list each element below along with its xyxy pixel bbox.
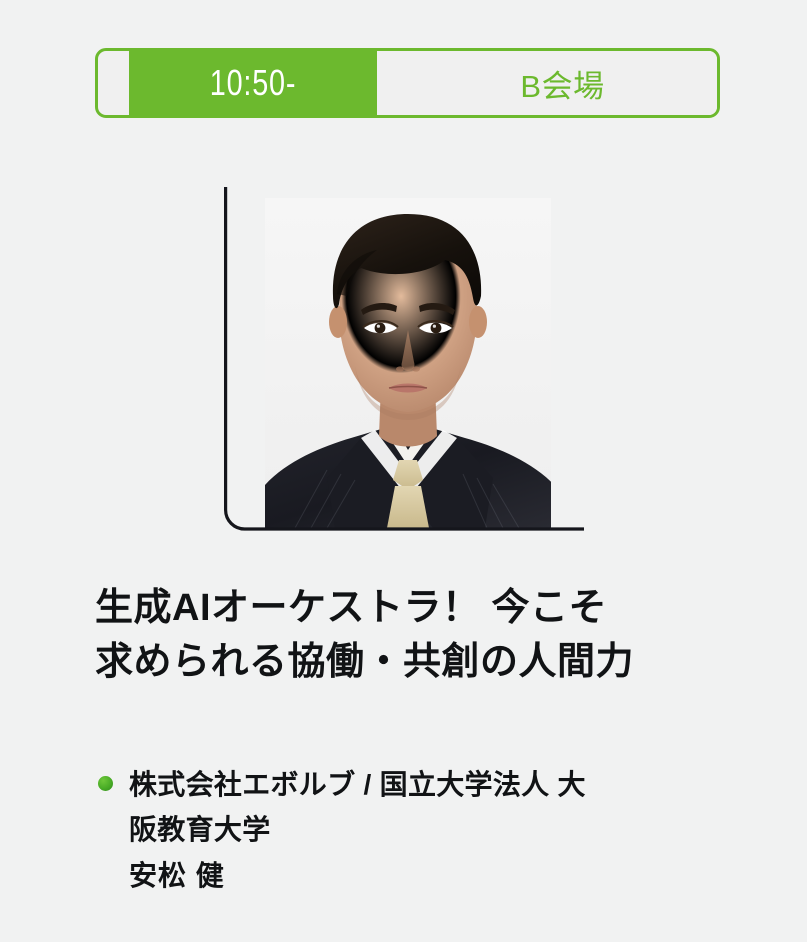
speaker-info: 株式会社エボルブ / 国立大学法人 大 阪教育大学 安松 健 [95,762,735,898]
speaker-affiliation-cont: 阪教育大学 [95,807,735,852]
session-badge: 10:50- B会場 [95,48,720,118]
bullet-dot-icon [98,776,113,791]
session-room-label: B会場 [408,51,717,115]
session-title-line-2: 求められる協働・共創の人間力 [95,636,735,690]
session-title: 生成AIオーケストラ！ 今こそ 求められる協働・共創の人間力 [95,582,735,690]
session-time-label: 10:50- [129,51,377,115]
speaker-photo [265,198,551,528]
speaker-affiliation: 株式会社エボルブ / 国立大学法人 大 [95,762,735,807]
session-title-line-1: 生成AIオーケストラ！ 今こそ [95,582,735,636]
speaker-portrait-frame [224,187,586,531]
portrait-image [265,198,551,528]
speaker-affiliation-line-2: 阪教育大学 [129,814,271,845]
speaker-name: 安松 健 [95,853,735,898]
speaker-affiliation-line-1: 株式会社エボルブ / 国立大学法人 大 [129,769,586,800]
